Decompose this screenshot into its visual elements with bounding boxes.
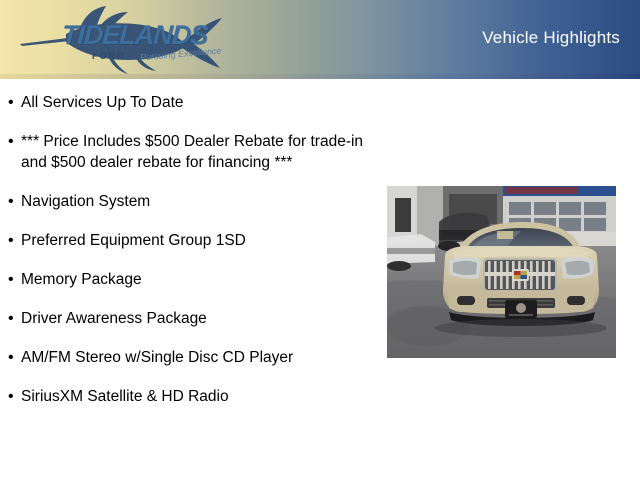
list-item: • SiriusXM Satellite & HD Radio bbox=[8, 386, 380, 407]
list-item-label: Driver Awareness Package bbox=[21, 308, 380, 329]
marlin-icon bbox=[20, 6, 222, 74]
vehicle-photo bbox=[387, 186, 616, 358]
list-item-label: SiriusXM Satellite & HD Radio bbox=[21, 386, 380, 407]
bullet-icon: • bbox=[8, 269, 21, 290]
list-item: • *** Price Includes $500 Dealer Rebate … bbox=[8, 131, 380, 173]
bullet-icon: • bbox=[8, 347, 21, 368]
list-item-label: Navigation System bbox=[21, 191, 380, 212]
bullet-icon: • bbox=[8, 230, 21, 251]
bullet-icon: • bbox=[8, 191, 21, 212]
list-item-label: AM/FM Stereo w/Single Disc CD Player bbox=[21, 347, 380, 368]
bullet-icon: • bbox=[8, 308, 21, 329]
list-item: • Driver Awareness Package bbox=[8, 308, 380, 329]
list-item: • Navigation System bbox=[8, 191, 380, 212]
list-item-label: Memory Package bbox=[21, 269, 380, 290]
header-divider bbox=[0, 74, 640, 79]
tidelands-ford-logo: TIDELANDS FORD Pursuing Excellence bbox=[16, 4, 224, 76]
bullet-icon: • bbox=[8, 131, 21, 152]
list-item: • Memory Package bbox=[8, 269, 380, 290]
cadillac-crest-emblem bbox=[512, 269, 529, 281]
list-item-label: All Services Up To Date bbox=[21, 92, 380, 113]
slide: TIDELANDS FORD Pursuing Excellence Vehic… bbox=[0, 0, 640, 480]
bullet-icon: • bbox=[8, 92, 21, 113]
bullet-icon: • bbox=[8, 386, 21, 407]
list-item-label: Preferred Equipment Group 1SD bbox=[21, 230, 380, 251]
vehicle-highlights-list: • All Services Up To Date • *** Price In… bbox=[8, 92, 380, 425]
page-title: Vehicle Highlights bbox=[482, 28, 620, 48]
header-banner: TIDELANDS FORD Pursuing Excellence Vehic… bbox=[0, 0, 640, 79]
list-item: • AM/FM Stereo w/Single Disc CD Player bbox=[8, 347, 380, 368]
list-item-label: *** Price Includes $500 Dealer Rebate fo… bbox=[21, 131, 380, 173]
list-item: • Preferred Equipment Group 1SD bbox=[8, 230, 380, 251]
list-item: • All Services Up To Date bbox=[8, 92, 380, 113]
